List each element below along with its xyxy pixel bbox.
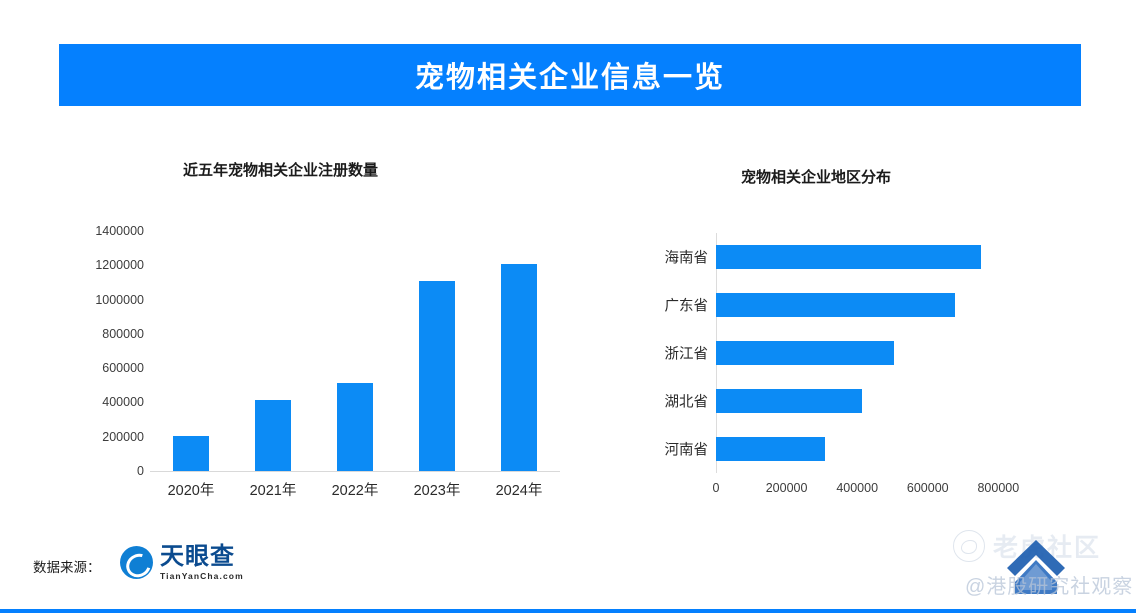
infographic-page: 宠物相关企业信息一览 近五年宠物相关企业注册数量 020000040000060… xyxy=(0,0,1136,613)
table-row xyxy=(716,245,981,269)
tianyancha-logo-cn: 天眼查 xyxy=(160,545,244,569)
header-banner: 宠物相关企业信息一览 xyxy=(59,44,1081,106)
x-axis-tick-label: 800000 xyxy=(977,481,1019,495)
table-row xyxy=(716,293,955,317)
table-row xyxy=(716,341,894,365)
left-plot-area xyxy=(150,231,560,471)
category-axis-label: 浙江省 xyxy=(618,343,708,364)
bottom-accent-rule xyxy=(0,609,1136,613)
table-row xyxy=(716,437,825,461)
page-title: 宠物相关企业信息一览 xyxy=(415,54,725,96)
table-row xyxy=(716,389,862,413)
table-row xyxy=(173,436,209,471)
table-row xyxy=(337,383,373,471)
x-axis-tick-label: 2020年 xyxy=(168,479,215,500)
tianyancha-logo-en: TianYanCha.com xyxy=(160,572,244,581)
table-row xyxy=(419,281,455,471)
y-axis-tick-label: 800000 xyxy=(24,327,144,341)
right-chart-title: 宠物相关企业地区分布 xyxy=(741,166,891,187)
y-axis-tick-label: 400000 xyxy=(24,395,144,409)
right-plot-area xyxy=(716,233,1016,473)
y-axis-tick-label: 200000 xyxy=(24,430,144,444)
x-axis-tick-label: 400000 xyxy=(836,481,878,495)
x-axis-tick-label: 2022年 xyxy=(332,479,379,500)
left-chart-title: 近五年宠物相关企业注册数量 xyxy=(183,159,378,180)
handle-watermark: @港股研究社观察 xyxy=(965,570,1133,599)
table-row xyxy=(501,264,537,471)
tianyancha-logo-text: 天眼查 TianYanCha.com xyxy=(160,545,244,581)
x-axis-tick-label: 600000 xyxy=(907,481,949,495)
y-axis-tick-label: 0 xyxy=(24,464,144,478)
y-axis-tick-label: 1400000 xyxy=(24,224,144,238)
x-axis-tick-label: 2023年 xyxy=(414,479,461,500)
category-axis-label: 海南省 xyxy=(618,247,708,268)
tianyancha-eye-icon xyxy=(120,546,153,579)
y-axis-tick-label: 1000000 xyxy=(24,293,144,307)
region-distribution-bar-chart: 海南省广东省浙江省湖北省河南省0200000400000600000800000 xyxy=(630,215,1070,515)
category-axis-label: 河南省 xyxy=(618,439,708,460)
left-axis-baseline xyxy=(150,471,560,472)
tianyancha-logo: 天眼查 TianYanCha.com xyxy=(120,545,244,581)
y-axis-tick-label: 1200000 xyxy=(24,258,144,272)
x-axis-tick-label: 200000 xyxy=(766,481,808,495)
tiger-circle-icon xyxy=(953,530,985,562)
x-axis-tick-label: 2024年 xyxy=(496,479,543,500)
category-axis-label: 湖北省 xyxy=(618,391,708,412)
x-axis-tick-label: 0 xyxy=(713,481,720,495)
source-label: 数据来源： xyxy=(33,556,101,576)
table-row xyxy=(255,400,291,471)
y-axis-tick-label: 600000 xyxy=(24,361,144,375)
category-axis-label: 广东省 xyxy=(618,295,708,316)
x-axis-tick-label: 2021年 xyxy=(250,479,297,500)
registrations-bar-chart: 0200000400000600000800000100000012000001… xyxy=(80,215,570,505)
